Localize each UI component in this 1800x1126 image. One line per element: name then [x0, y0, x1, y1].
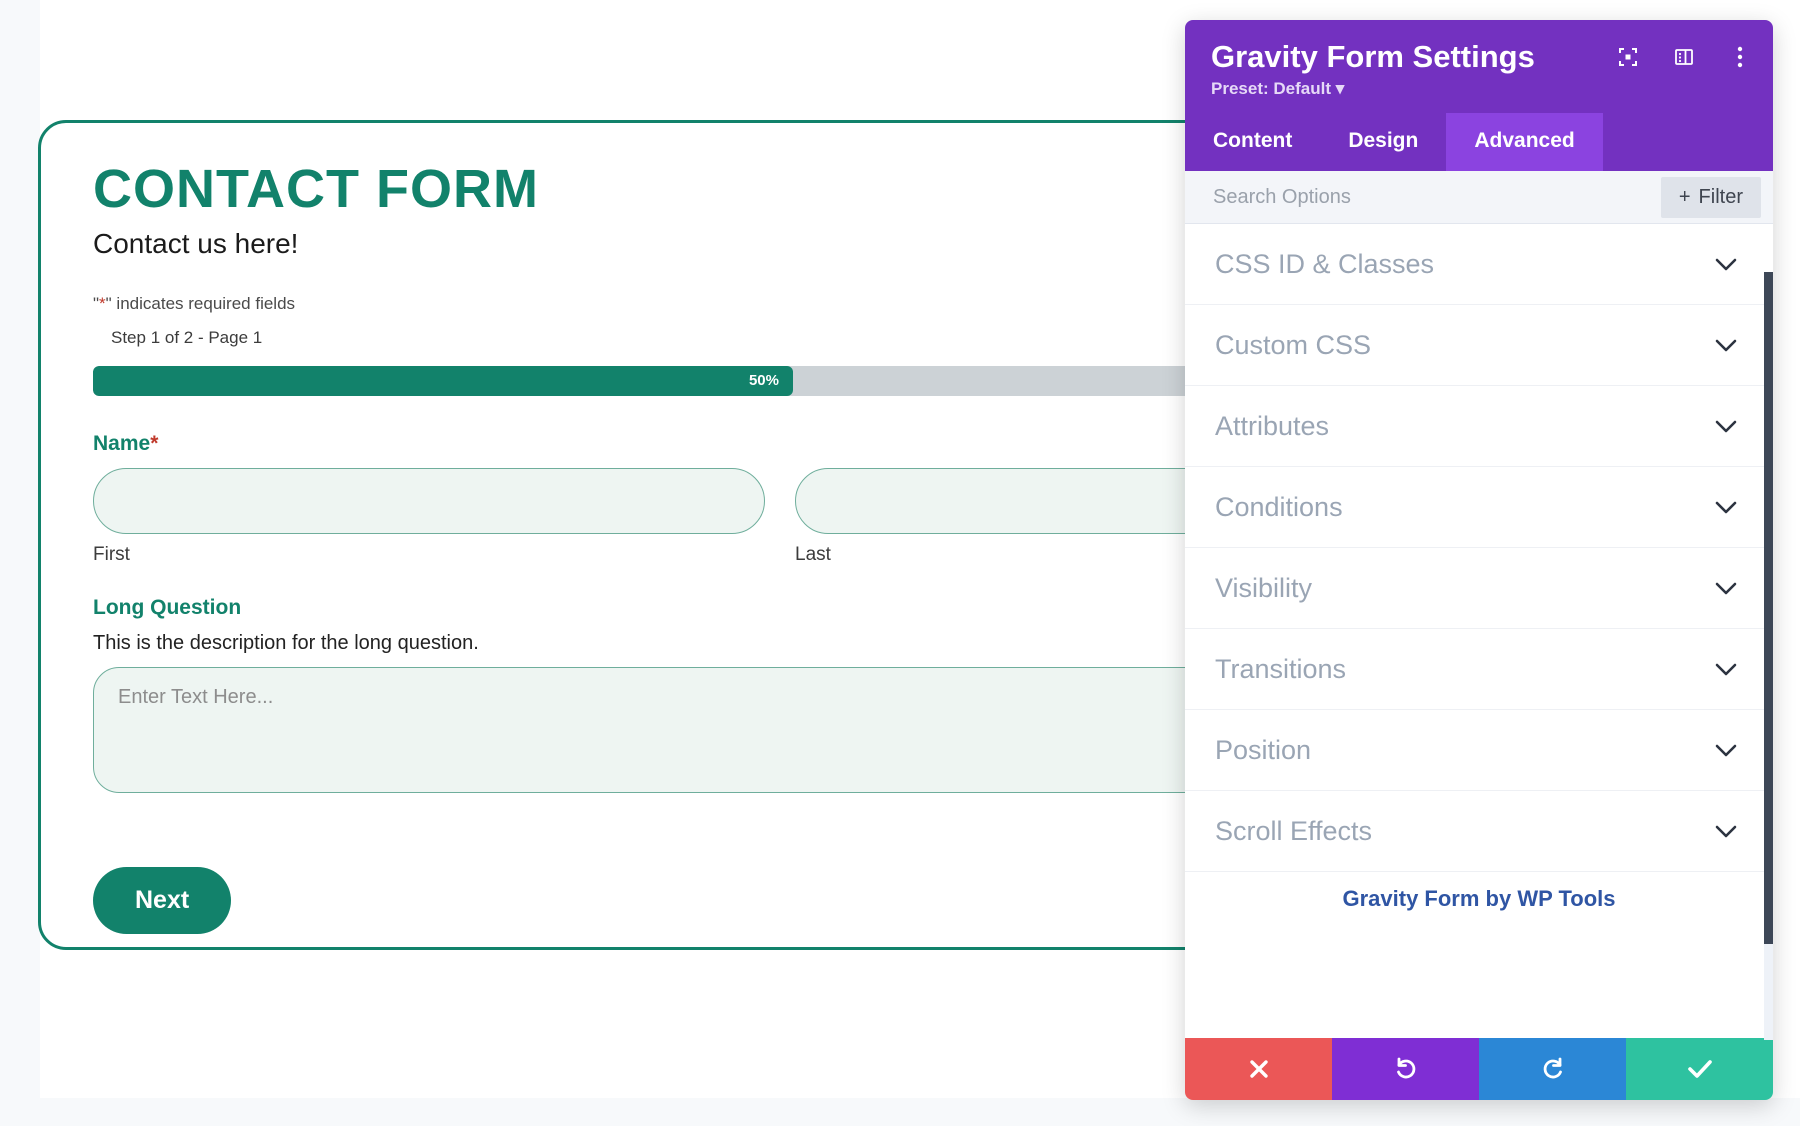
- redo-button[interactable]: [1479, 1038, 1626, 1100]
- required-asterisk: *: [99, 294, 106, 313]
- panel-tabs: Content Design Advanced: [1185, 113, 1773, 171]
- name-label-text: Name: [93, 432, 150, 455]
- option-label: Custom CSS: [1215, 330, 1371, 361]
- chevron-down-icon: [1715, 582, 1737, 595]
- option-row-conditions[interactable]: Conditions: [1185, 467, 1773, 548]
- option-row-scroll-effects[interactable]: Scroll Effects: [1185, 791, 1773, 872]
- option-row-visibility[interactable]: Visibility: [1185, 548, 1773, 629]
- chevron-down-icon: ▾: [1336, 79, 1345, 98]
- progress-percent-label: 50%: [749, 372, 793, 389]
- option-label: Scroll Effects: [1215, 816, 1372, 847]
- filter-button-label: Filter: [1699, 186, 1743, 209]
- tab-design[interactable]: Design: [1320, 113, 1446, 171]
- option-label: Attributes: [1215, 411, 1329, 442]
- search-input[interactable]: [1211, 170, 1661, 224]
- progress-bar-fill: 50%: [93, 366, 793, 396]
- undo-icon: [1393, 1056, 1419, 1082]
- check-icon: [1686, 1057, 1714, 1081]
- tab-content[interactable]: Content: [1185, 113, 1320, 171]
- options-list: CSS ID & Classes Custom CSS Attributes C…: [1185, 224, 1773, 1038]
- chevron-down-icon: [1715, 825, 1737, 838]
- panel-scrollbar[interactable]: [1764, 272, 1773, 1040]
- option-row-transitions[interactable]: Transitions: [1185, 629, 1773, 710]
- option-label: Conditions: [1215, 492, 1343, 523]
- option-label: Visibility: [1215, 573, 1312, 604]
- option-row-position[interactable]: Position: [1185, 710, 1773, 791]
- panel-header: Gravity Form Settings Preset: Default ▾: [1185, 20, 1773, 113]
- chevron-down-icon: [1715, 339, 1737, 352]
- background-bottom-strip: [0, 1098, 1800, 1126]
- save-button[interactable]: [1626, 1038, 1773, 1100]
- first-name-column: First: [93, 468, 765, 566]
- name-required-marker: *: [150, 432, 158, 455]
- first-name-sublabel: First: [93, 544, 765, 566]
- chevron-down-icon: [1715, 258, 1737, 271]
- panel-footnote-link[interactable]: Gravity Form by WP Tools: [1342, 886, 1615, 911]
- panel-header-icon-group: [1617, 46, 1751, 68]
- next-button[interactable]: Next: [93, 867, 231, 934]
- plus-icon: +: [1679, 186, 1691, 209]
- option-label: CSS ID & Classes: [1215, 249, 1434, 280]
- option-row-css-id-classes[interactable]: CSS ID & Classes: [1185, 224, 1773, 305]
- option-row-attributes[interactable]: Attributes: [1185, 386, 1773, 467]
- search-row: + Filter: [1185, 171, 1773, 224]
- panel-action-bar: [1185, 1038, 1773, 1100]
- required-note-text: " indicates required fields: [106, 294, 295, 313]
- panel-footnote: Gravity Form by WP Tools: [1185, 872, 1773, 938]
- tab-advanced[interactable]: Advanced: [1446, 113, 1602, 171]
- chevron-down-icon: [1715, 663, 1737, 676]
- undo-button[interactable]: [1332, 1038, 1479, 1100]
- cancel-button[interactable]: [1185, 1038, 1332, 1100]
- option-label: Position: [1215, 735, 1311, 766]
- redo-icon: [1540, 1056, 1566, 1082]
- gravity-form-settings-panel: Gravity Form Settings Preset: Default ▾: [1185, 20, 1773, 1100]
- option-label: Transitions: [1215, 654, 1346, 685]
- close-icon: [1247, 1057, 1271, 1081]
- chevron-down-icon: [1715, 501, 1737, 514]
- first-name-input[interactable]: [93, 468, 765, 534]
- page-root: CONTACT FORM Contact us here! "*" indica…: [0, 0, 1800, 1126]
- chevron-down-icon: [1715, 420, 1737, 433]
- option-row-custom-css[interactable]: Custom CSS: [1185, 305, 1773, 386]
- more-vertical-icon[interactable]: [1729, 46, 1751, 68]
- chevron-down-icon: [1715, 744, 1737, 757]
- expand-icon[interactable]: [1617, 46, 1639, 68]
- background-left-strip: [0, 0, 40, 1126]
- preset-label: Preset: Default: [1211, 79, 1331, 98]
- preset-selector[interactable]: Preset: Default ▾: [1211, 79, 1747, 99]
- filter-button[interactable]: + Filter: [1661, 177, 1761, 218]
- panel-scrollbar-thumb[interactable]: [1764, 272, 1773, 944]
- layout-panel-icon[interactable]: [1673, 46, 1695, 68]
